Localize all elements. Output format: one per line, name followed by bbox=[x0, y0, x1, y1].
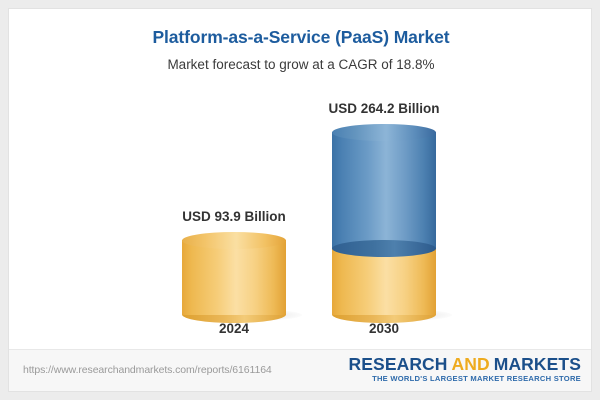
cylinder-top-ellipse bbox=[332, 124, 436, 141]
logo-word-research: RESEARCH bbox=[349, 354, 448, 374]
logo-word-and: AND bbox=[448, 354, 494, 374]
category-label-2030: 2030 bbox=[304, 321, 464, 336]
bar-2030[interactable] bbox=[332, 124, 436, 315]
category-label-2024: 2024 bbox=[154, 321, 314, 336]
chart-card: Platform-as-a-Service (PaaS) Market Mark… bbox=[8, 8, 592, 392]
logo-word-markets: MARKETS bbox=[494, 354, 581, 374]
cylinder-body bbox=[182, 240, 286, 315]
value-label-2024: USD 93.9 Billion bbox=[124, 209, 344, 224]
research-and-markets-logo[interactable]: RESEARCHANDMARKETS THE WORLD'S LARGEST M… bbox=[349, 355, 581, 384]
cylinder-top-ellipse bbox=[182, 232, 286, 249]
cylinder-segment-divider-ellipse bbox=[332, 240, 436, 257]
source-url[interactable]: https://www.researchandmarkets.com/repor… bbox=[23, 364, 272, 376]
cylinder-2024-base-segment bbox=[182, 240, 286, 315]
bar-2024[interactable] bbox=[182, 232, 286, 315]
cylinder-body bbox=[332, 132, 436, 249]
cylinder-2030-growth-segment bbox=[332, 132, 436, 249]
chart-footer: https://www.researchandmarkets.com/repor… bbox=[9, 349, 592, 391]
logo-tagline: THE WORLD'S LARGEST MARKET RESEARCH STOR… bbox=[349, 374, 581, 384]
logo-wordmark: RESEARCHANDMARKETS bbox=[349, 355, 581, 374]
value-label-2030: USD 264.2 Billion bbox=[274, 101, 494, 116]
chart-plot-area: USD 93.9 Billion 2024 USD 264.2 Billion bbox=[9, 9, 592, 351]
